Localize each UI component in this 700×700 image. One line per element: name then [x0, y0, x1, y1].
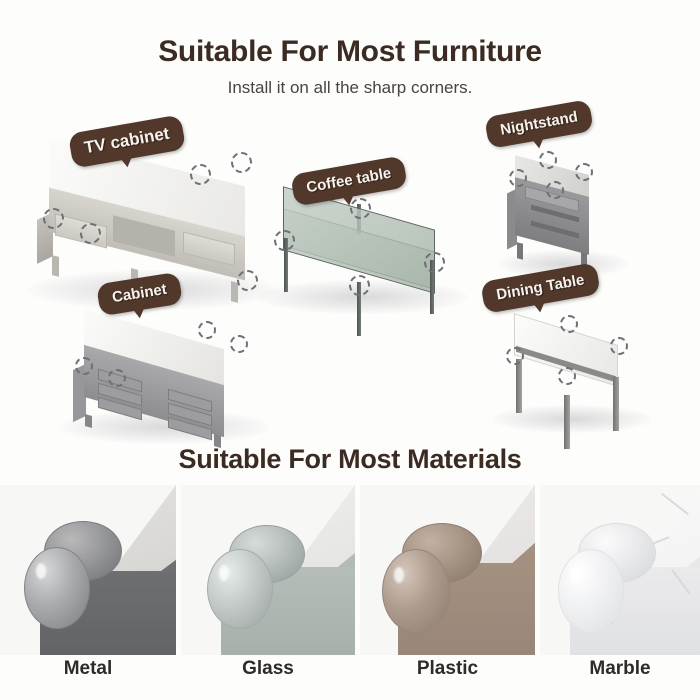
- corner-marker-icon: [237, 270, 258, 291]
- material-panel-marble: [540, 485, 700, 655]
- label-text: Coffee table: [305, 165, 393, 197]
- corner-marker-icon: [274, 230, 295, 251]
- label-text: Dining Table: [495, 271, 585, 303]
- material-captions: Metal Glass Plastic Marble: [0, 658, 700, 700]
- furniture-scene: TV cabinet Coffee table: [0, 100, 700, 440]
- corner-marker-icon: [575, 163, 593, 181]
- page-title-materials: Suitable For Most Materials: [0, 444, 700, 475]
- cabinet-leg: [85, 414, 92, 428]
- nightstand-leg: [517, 242, 523, 260]
- corner-guard-glass: [207, 525, 303, 631]
- corner-marker-icon: [231, 152, 252, 173]
- corner-marker-icon: [75, 357, 93, 375]
- material-panel-glass: [181, 485, 355, 655]
- furniture-coffee-table: [265, 190, 455, 320]
- dining-table-leg: [564, 395, 570, 449]
- furniture-dining-table: [500, 315, 640, 435]
- label-text: Nightstand: [499, 108, 579, 138]
- material-caption-marble: Marble: [540, 658, 700, 680]
- corner-marker-icon: [509, 169, 527, 187]
- label-nightstand: Nightstand: [484, 99, 594, 149]
- corner-marker-icon: [198, 321, 216, 339]
- tv-cabinet-leg: [52, 255, 59, 277]
- dining-table-leg: [516, 359, 522, 413]
- guard-ball: [382, 549, 450, 633]
- guard-highlight: [36, 563, 46, 579]
- guard-ball: [558, 549, 624, 633]
- corner-marker-icon: [546, 181, 564, 199]
- corner-marker-icon: [349, 275, 370, 296]
- guard-highlight: [570, 567, 580, 583]
- label-text: TV cabinet: [83, 124, 171, 158]
- corner-marker-icon: [230, 335, 248, 353]
- corner-marker-icon: [560, 315, 578, 333]
- dining-table-leg: [613, 377, 619, 431]
- infographic-page: Suitable For Most Furniture Install it o…: [0, 0, 700, 700]
- guard-highlight: [219, 565, 229, 581]
- furniture-tv-cabinet: [35, 140, 265, 290]
- guard-ball: [24, 547, 90, 629]
- page-title-furniture: Suitable For Most Furniture: [0, 35, 700, 69]
- corner-marker-icon: [558, 367, 576, 385]
- subtitle-furniture: Install it on all the sharp corners.: [0, 78, 700, 98]
- materials-photo-strip: [0, 485, 700, 655]
- material-panel-plastic: [360, 485, 535, 655]
- corner-marker-icon: [43, 208, 64, 229]
- label-text: Cabinet: [111, 281, 168, 306]
- furniture-cabinet: [72, 315, 252, 435]
- corner-marker-icon: [424, 252, 445, 273]
- corner-guard-marble: [558, 523, 654, 633]
- guard-highlight: [394, 567, 404, 583]
- furniture-nightstand: [505, 155, 615, 270]
- material-caption-glass: Glass: [181, 658, 355, 680]
- corner-marker-icon: [539, 151, 557, 169]
- material-caption-metal: Metal: [0, 658, 176, 680]
- marble-vein: [661, 493, 689, 516]
- material-panel-metal: [0, 485, 176, 655]
- corner-marker-icon: [610, 337, 628, 355]
- corner-marker-icon: [506, 347, 524, 365]
- corner-marker-icon: [108, 369, 126, 387]
- corner-marker-icon: [80, 223, 101, 244]
- corner-guard-metal: [24, 521, 120, 631]
- corner-marker-icon: [190, 164, 211, 185]
- guard-ball: [207, 549, 273, 629]
- material-caption-plastic: Plastic: [360, 658, 535, 680]
- corner-guard-plastic: [382, 523, 478, 633]
